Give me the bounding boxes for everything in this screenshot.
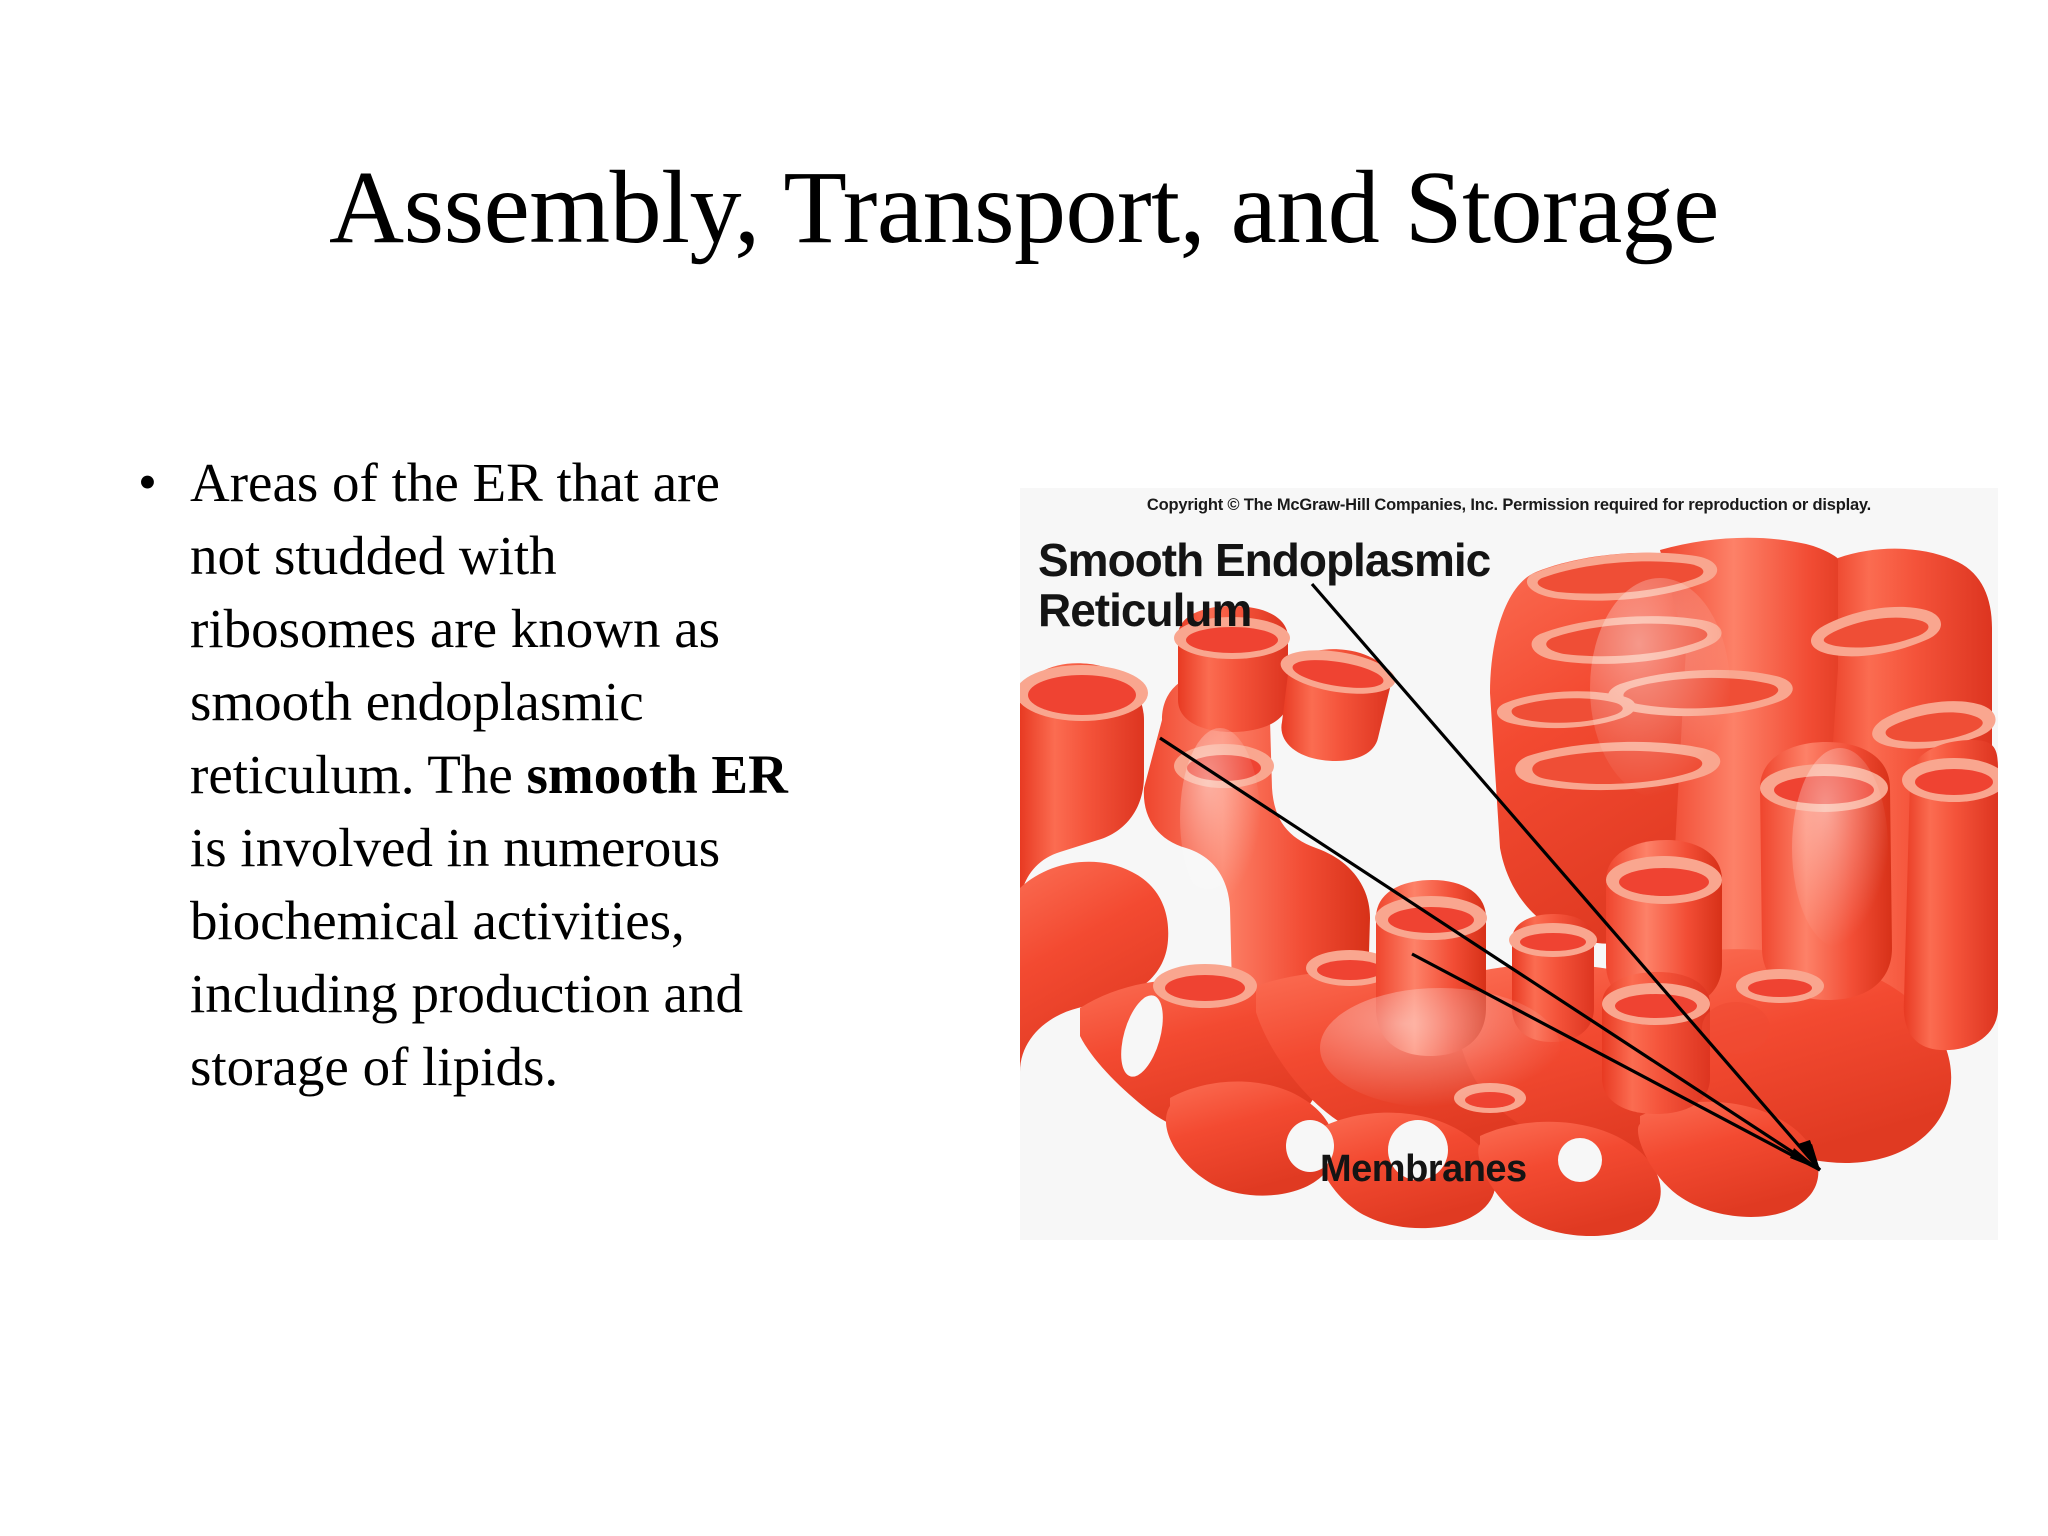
- bullet-run-plain-2: is involved in numerous biochemical acti…: [190, 817, 743, 1097]
- figure-heading-line-2: Reticulum: [1038, 586, 1490, 636]
- bullet-glyph-icon: •: [130, 446, 190, 519]
- membranes-callout-label: Membranes: [1320, 1148, 1527, 1191]
- slide-canvas: Assembly, Transport, and Storage • Areas…: [0, 0, 2048, 1536]
- figure-panel: Copyright © The McGraw-Hill Companies, I…: [1020, 488, 1998, 1240]
- bullet-paragraph: Areas of the ER that are not studded wit…: [190, 446, 790, 1103]
- figure-heading: Smooth Endoplasmic Reticulum: [1038, 536, 1490, 635]
- figure-heading-line-1: Smooth Endoplasmic: [1038, 536, 1490, 586]
- body-content: • Areas of the ER that are not studded w…: [130, 446, 790, 1103]
- bullet-run-bold: smooth ER: [527, 744, 788, 805]
- list-item: • Areas of the ER that are not studded w…: [130, 446, 790, 1103]
- page-title: Assembly, Transport, and Storage: [0, 152, 2048, 264]
